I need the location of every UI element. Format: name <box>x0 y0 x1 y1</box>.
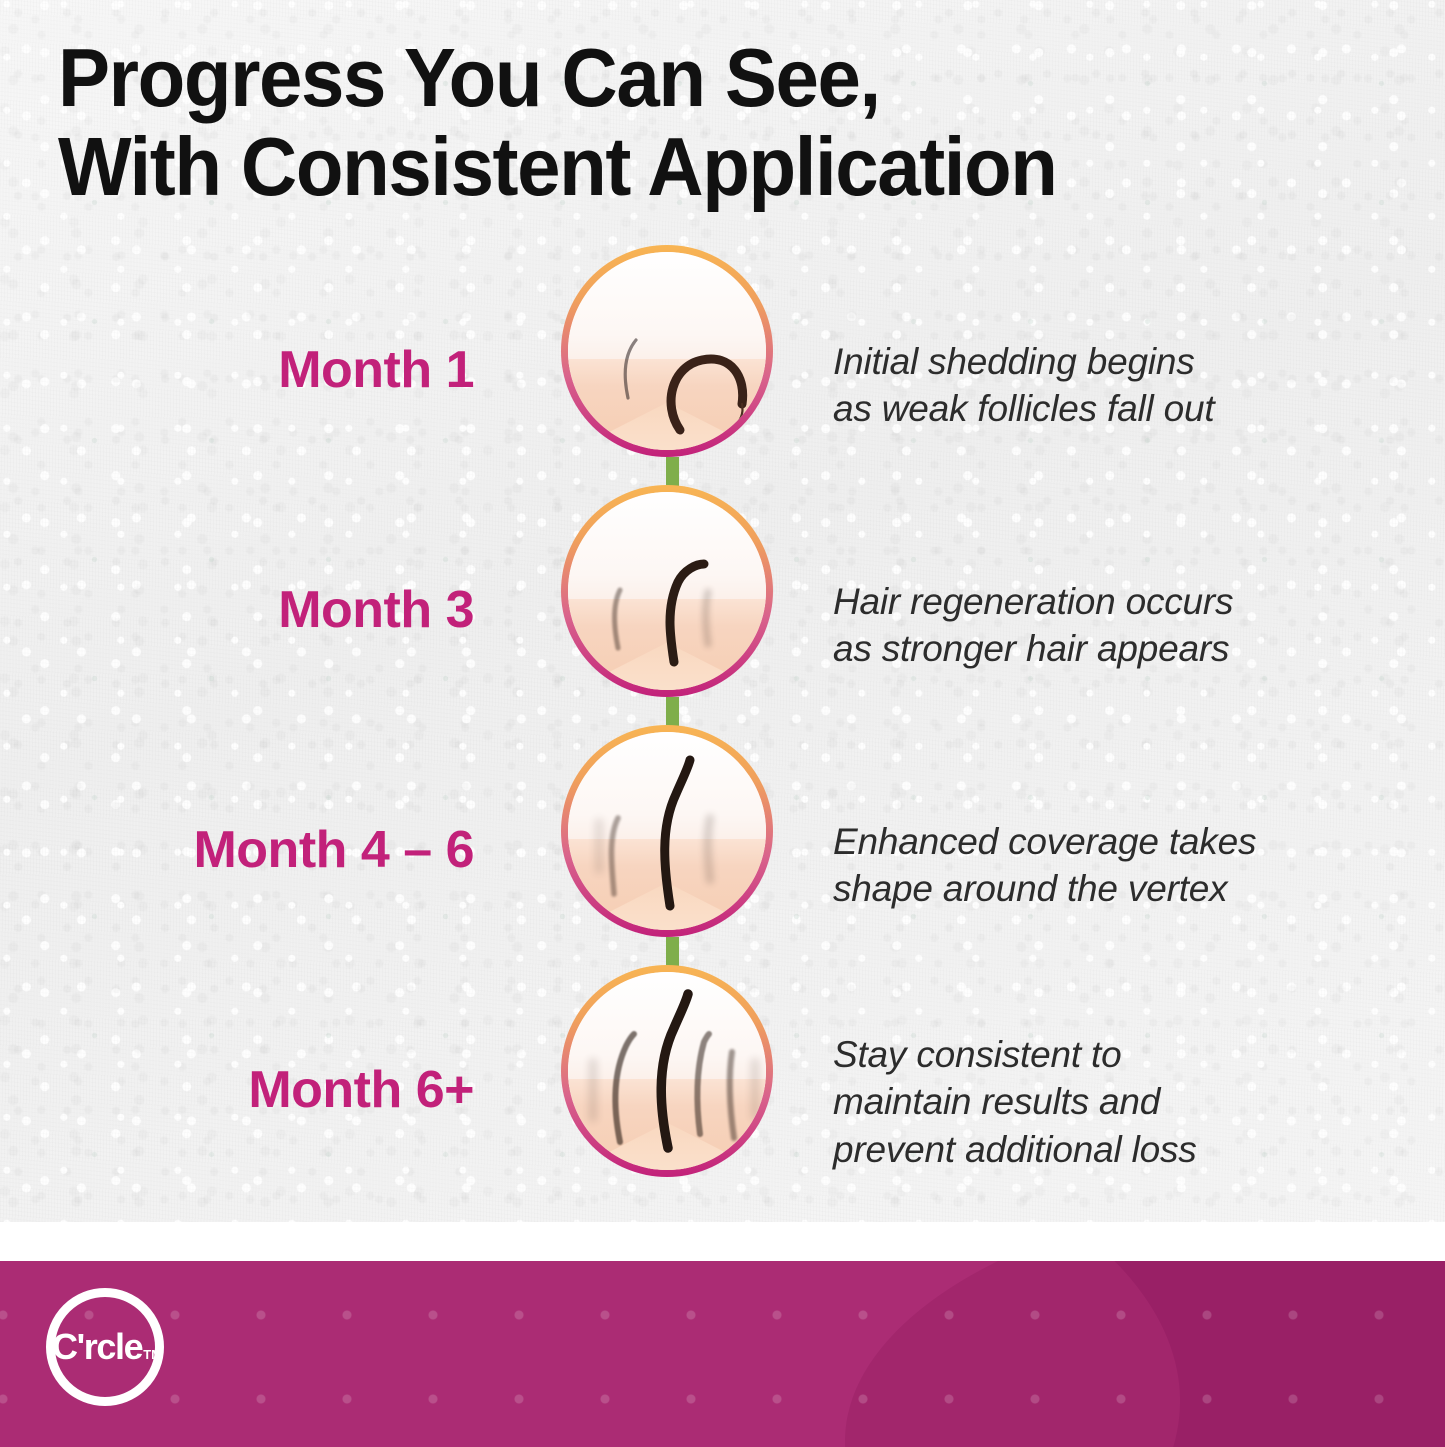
brand-logo-text: C'rcleTM <box>52 1329 162 1365</box>
node-illustration <box>568 972 766 1170</box>
brand-logo-circle: C'rcleTM <box>46 1288 164 1406</box>
footer-dot-pattern <box>0 1261 1445 1447</box>
page-title: Progress You Can See, With Consistent Ap… <box>58 34 1233 212</box>
progress-timeline: Month 1 <box>0 245 1445 1210</box>
hair-strand-background-blur-b <box>588 820 610 872</box>
timeline-item-description: Initial shedding begins as weak follicle… <box>833 338 1393 433</box>
node-illustration <box>568 492 766 690</box>
content-area: Progress You Can See, With Consistent Ap… <box>0 0 1445 1222</box>
timeline-item-label: Month 6+ <box>54 1064 474 1116</box>
timeline-item-description: Enhanced coverage takes shape around the… <box>833 818 1393 913</box>
hair-strand-right-b <box>716 1044 746 1140</box>
hair-strand-right-a <box>686 1032 716 1136</box>
scalp-regrowing-hair-icon <box>561 485 773 697</box>
scalp-single-shed-hair-icon <box>561 245 773 457</box>
timeline-row: Month 6+ <box>0 965 1445 1200</box>
hair-strand-primary <box>650 758 698 908</box>
timeline-item-label: Month 3 <box>54 584 474 636</box>
brand-logo-name: C'rcle <box>52 1326 142 1367</box>
hair-strand-left <box>604 1032 638 1144</box>
hair-strand-shedding <box>650 342 760 434</box>
hair-strand-background-blur-far-right <box>744 1060 766 1118</box>
white-separator-band <box>0 1222 1445 1261</box>
timeline-item-label: Month 4 – 6 <box>54 824 474 876</box>
hair-strand-detached <box>616 338 646 402</box>
timeline-row: Month 4 – 6 <box>0 725 1445 960</box>
hair-strand-background-blur-far-left <box>582 1060 604 1120</box>
hair-strand-background-blur <box>694 590 720 646</box>
timeline-row: Month 1 <box>0 245 1445 480</box>
scalp-dense-hair-icon <box>561 965 773 1177</box>
node-illustration <box>568 732 766 930</box>
timeline-item-label: Month 1 <box>54 344 474 396</box>
timeline-row: Month 3 <box>0 485 1445 720</box>
scalp-longer-hair-icon <box>561 725 773 937</box>
hair-strand-background-blur-a <box>696 816 722 882</box>
node-illustration <box>568 252 766 450</box>
timeline-item-description: Stay consistent to maintain results and … <box>833 1031 1393 1173</box>
footer-brand-band <box>0 1261 1445 1447</box>
brand-logo-trademark: TM <box>143 1347 162 1362</box>
timeline-item-description: Hair regeneration occurs as stronger hai… <box>833 578 1393 673</box>
hair-strand-faint <box>604 588 632 650</box>
